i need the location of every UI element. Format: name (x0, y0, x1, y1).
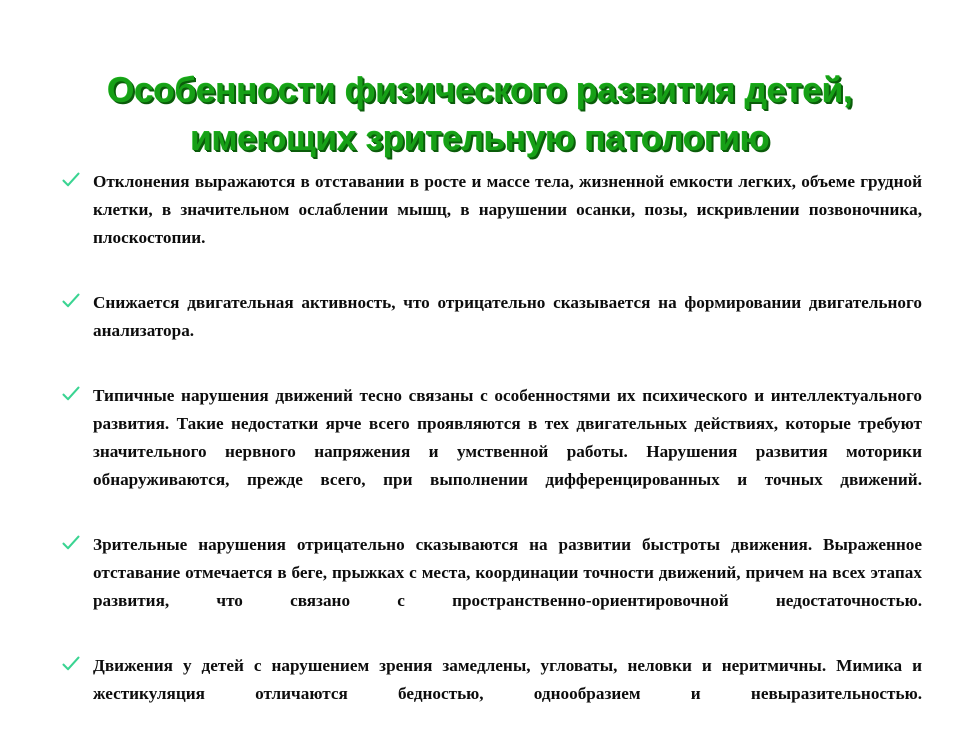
list-item-text: Движения у детей с нарушением зрения зам… (93, 652, 922, 736)
list-item: Отклонения выражаются в отставании в рос… (60, 168, 922, 280)
list-item: Движения у детей с нарушением зрения зам… (60, 652, 922, 736)
list-item-text: Отклонения выражаются в отставании в рос… (93, 168, 922, 280)
check-icon (62, 386, 80, 404)
page-title: Особенности физического развития детей, … (0, 67, 960, 163)
list-item-text: Зрительные нарушения отрицательно сказыв… (93, 531, 922, 643)
check-icon (62, 656, 80, 674)
list-item: Зрительные нарушения отрицательно сказыв… (60, 531, 922, 643)
list-item-text: Типичные нарушения движений тесно связан… (93, 382, 922, 522)
presentation-slide: Особенности физического развития детей, … (0, 0, 960, 720)
list-item: Снижается двигательная активность, что о… (60, 289, 922, 373)
list-item-text: Снижается двигательная активность, что о… (93, 289, 922, 373)
check-icon (62, 535, 80, 553)
check-icon (62, 293, 80, 311)
bullet-list: Отклонения выражаются в отставании в рос… (60, 168, 922, 736)
list-item: Типичные нарушения движений тесно связан… (60, 382, 922, 522)
check-icon (62, 172, 80, 190)
